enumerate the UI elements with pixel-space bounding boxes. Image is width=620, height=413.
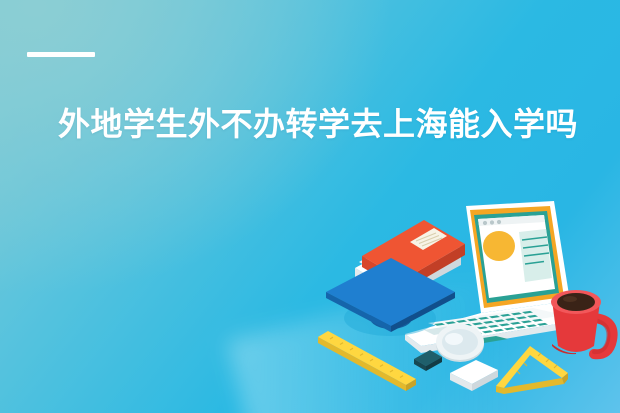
coffee-surface — [557, 293, 595, 311]
eraser — [450, 360, 498, 391]
coffee-mug — [551, 290, 613, 354]
laptop-screen-window — [478, 215, 555, 298]
triangle-ruler — [496, 346, 568, 394]
cover-banner: 外地学生外不办转学去上海能入学吗 — [0, 0, 620, 413]
page-title: 外地学生外不办转学去上海能入学吗 — [58, 104, 578, 144]
ruler — [318, 331, 416, 391]
accent-rule — [27, 52, 95, 57]
education-illustration — [318, 196, 620, 413]
